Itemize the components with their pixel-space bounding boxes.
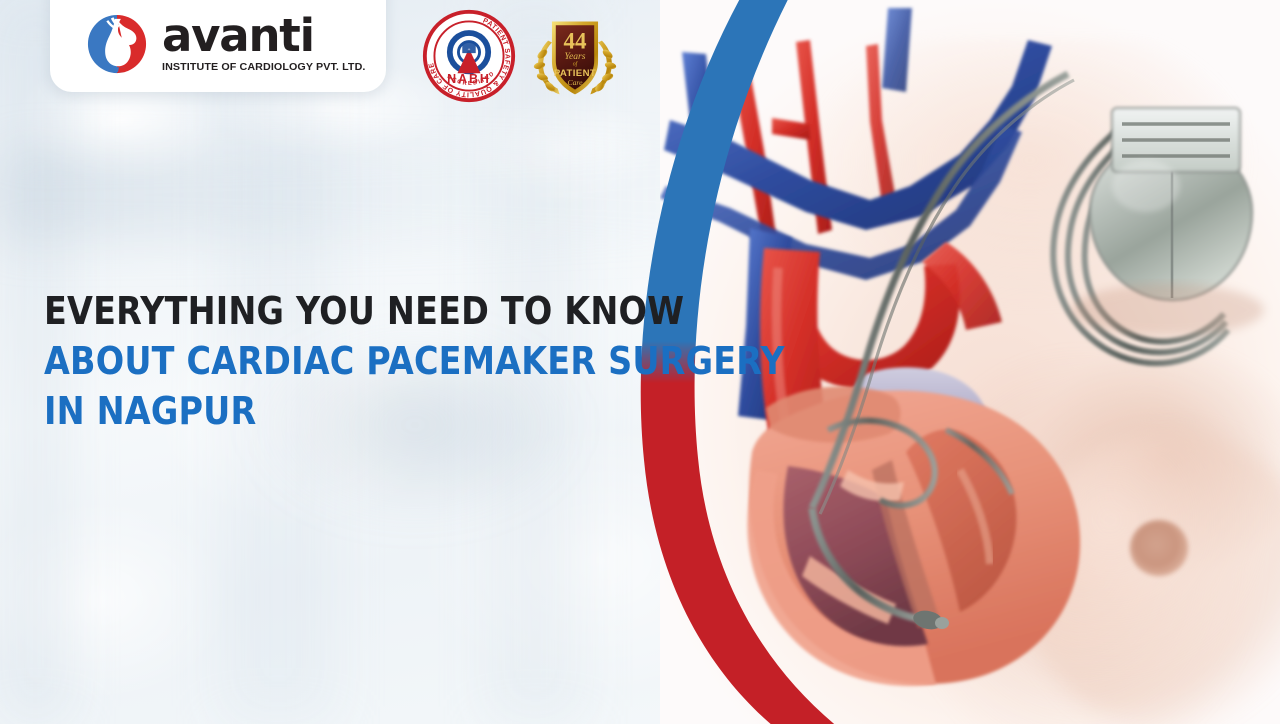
accreditation-badges: PATIENT SAFETY & QUALITY OF CARE + NABH …	[420, 8, 624, 104]
headline-line-3: IN NAGPUR	[44, 386, 572, 436]
cardiac-pacemaker-banner: avanti INSTITUTE OF CARDIOLOGY PVT. LTD.…	[0, 0, 1280, 724]
anatomical-heart-circle-logo	[86, 13, 148, 75]
badge-years-label: Years	[565, 51, 586, 62]
headline-line-2: ABOUT CARDIAC PACEMAKER SURGERY	[44, 336, 572, 386]
brand-name: avanti	[162, 15, 362, 58]
gold-laurel-shield-badge: 44 Years of PATIENT Care	[526, 8, 624, 104]
badge-care-label: Care	[567, 78, 583, 87]
headline-block: EVERYTHING YOU NEED TO KNOW ABOUT CARDIA…	[44, 286, 644, 436]
badge-years-number: 44	[563, 27, 587, 53]
brand-logo-card[interactable]: avanti INSTITUTE OF CARDIOLOGY PVT. LTD.	[50, 0, 386, 92]
svg-text:+: +	[468, 48, 471, 53]
brand-tagline: INSTITUTE OF CARDIOLOGY PVT. LTD.	[162, 61, 365, 73]
headline-line-1: EVERYTHING YOU NEED TO KNOW	[44, 286, 572, 336]
nabh-accreditation-seal: PATIENT SAFETY & QUALITY OF CARE + NABH …	[420, 8, 518, 104]
